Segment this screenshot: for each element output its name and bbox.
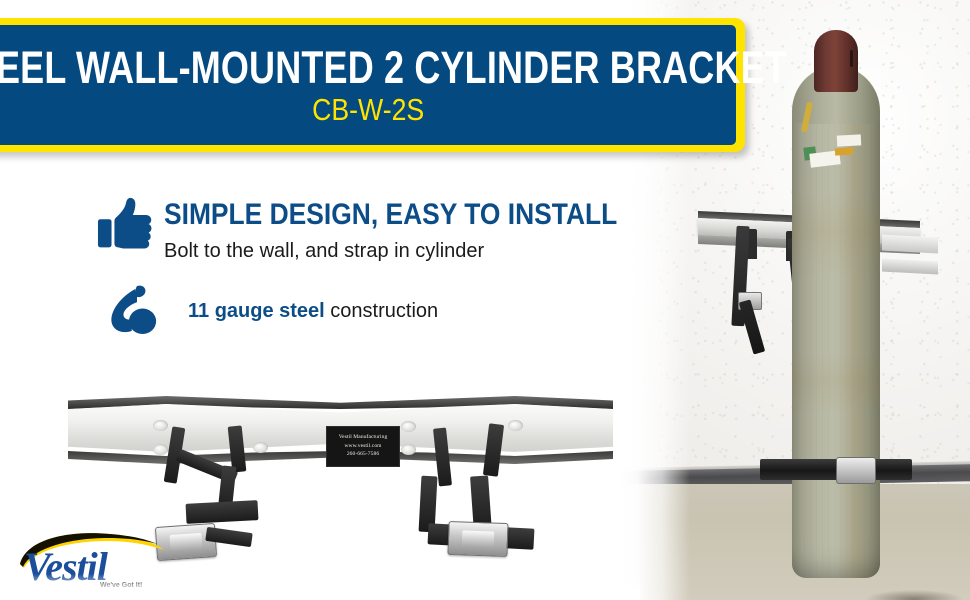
cylinder-strap-buckle: [836, 457, 876, 484]
model-number: CB-W-2S: [312, 94, 424, 125]
title-banner-inner: STEEL WALL-MOUNTED 2 CYLINDER BRACKET CB…: [0, 25, 736, 145]
manufacturer-plate: Vestil Manufacturing www.vestil.com 260-…: [326, 426, 400, 467]
cylinder-floor-shadow: [866, 590, 962, 600]
product-banner: STEEL WALL-MOUNTED 2 CYLINDER BRACKET CB…: [0, 0, 970, 600]
plate-line-company: Vestil Manufacturing: [327, 434, 399, 441]
feature-rest-text: construction: [325, 300, 438, 322]
cam-buckle: [447, 521, 508, 557]
cylinder-valve-cap: [814, 30, 858, 92]
bracket-channel: Vestil Manufacturing www.vestil.com 260-…: [68, 396, 613, 464]
feature-text-gauge-steel: 11 gauge steel construction: [164, 279, 438, 323]
vestil-logo[interactable]: Vestil We've Got It!: [18, 528, 168, 590]
thumbs-up-icon: [92, 195, 164, 257]
mounting-hole: [253, 442, 268, 453]
gas-cylinder: [792, 30, 880, 575]
title-banner: STEEL WALL-MOUNTED 2 CYLINDER BRACKET CB…: [0, 18, 745, 152]
logo-tagline: We've Got It!: [100, 582, 142, 589]
feature-item-gauge-steel: 11 gauge steel construction: [92, 279, 612, 341]
mounting-hole: [153, 420, 168, 431]
mounted-bracket-right: [882, 236, 938, 284]
flexed-bicep-icon: [92, 279, 164, 341]
feature-title: SIMPLE DESIGN, EASY TO INSTALL: [164, 199, 617, 231]
mounting-hole: [153, 444, 168, 455]
feature-list: SIMPLE DESIGN, EASY TO INSTALL Bolt to t…: [92, 195, 612, 349]
feature-accent-text: 11 gauge steel: [188, 300, 325, 322]
mounting-hole: [401, 421, 416, 432]
plate-line-website: www.vestil.com: [327, 443, 399, 450]
svg-text:Vestil: Vestil: [24, 544, 109, 589]
feature-subtitle-gauge: 11 gauge steel construction: [188, 299, 438, 323]
cylinder-label-top: [837, 134, 862, 146]
plate-line-phone: 260-665-7586: [327, 451, 399, 458]
page-title: STEEL WALL-MOUNTED 2 CYLINDER BRACKET: [0, 45, 787, 90]
feature-text-simple-design: SIMPLE DESIGN, EASY TO INSTALL Bolt to t…: [164, 195, 679, 263]
cylinder-body: [792, 108, 880, 578]
mounting-hole: [508, 420, 523, 431]
mounting-hole: [401, 444, 416, 455]
cylinder-patina: [792, 108, 880, 578]
feature-subtitle: Bolt to the wall, and strap in cylinder: [164, 239, 679, 263]
strap-loop: [186, 500, 259, 524]
cylinder-label-yellow: [835, 147, 853, 155]
feature-item-simple-design: SIMPLE DESIGN, EASY TO INSTALL Bolt to t…: [92, 195, 612, 263]
